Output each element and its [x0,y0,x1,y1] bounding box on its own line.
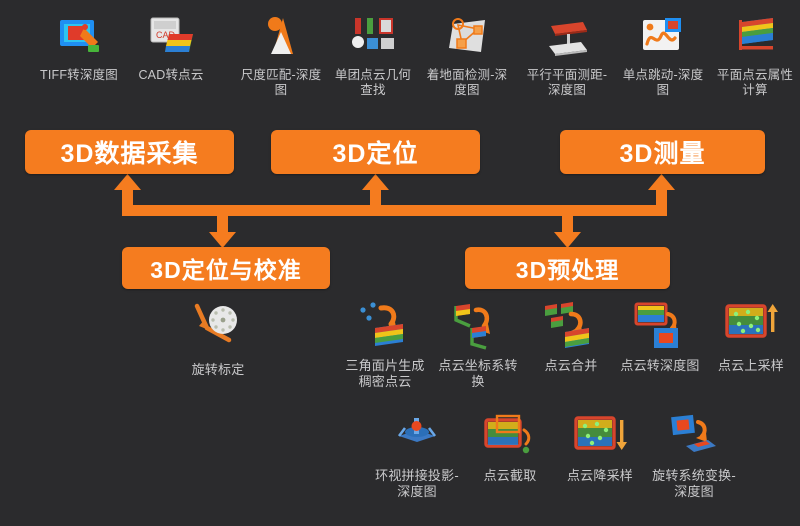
tool-label: 单点跳动-深度图 [620,68,706,99]
tool-single-cluster-geometry-find[interactable]: 单团点云几何查找 [330,12,416,99]
box-label: 3D数据采集 [61,134,199,170]
tool-label: 点云坐标系转换 [432,358,524,390]
point-cloud-upsample-icon [721,300,781,355]
tool-label: 点云降采样 [554,468,646,484]
tool-point-cloud-crop[interactable]: 点云截取 [464,412,556,484]
tool-label: 尺度匹配-深度图 [238,68,324,99]
tool-label: 旋转标定 [168,362,268,378]
diagram-canvas: TIFF转深度图 CAD CAD转点云 尺度匹配-深度图 [0,0,800,526]
cad-to-point-cloud-icon: CAD [145,12,197,65]
parallel-plane-distance-icon [539,12,595,65]
tool-tiff-to-depth-map[interactable]: TIFF转深度图 [36,12,122,83]
tool-scale-match-depth-map[interactable]: 尺度匹配-深度图 [238,12,324,99]
tool-cad-to-point-cloud[interactable]: CAD CAD转点云 [128,12,214,83]
box-3d-data-acquisition[interactable]: 3D数据采集 [25,130,234,174]
single-cluster-geometry-find-icon [347,12,399,65]
rotation-calibration-icon [185,300,251,359]
box-3d-preprocessing[interactable]: 3D预处理 [465,247,670,289]
tool-single-point-runout[interactable]: 单点跳动-深度图 [620,12,706,99]
surround-stitch-projection-icon [387,412,447,465]
tool-label: 点云截取 [464,468,556,484]
point-cloud-crop-icon [480,412,540,465]
rotation-system-transform-icon [664,412,724,465]
point-cloud-to-depth-map-icon [630,300,690,355]
plane-point-cloud-attribute-icon [729,12,781,65]
point-cloud-merge-icon [541,300,601,355]
triangle-mesh-to-dense-cloud-icon [355,300,415,355]
tool-point-cloud-coordinate-transform[interactable]: 点云坐标系转换 [432,300,524,390]
box-label: 3D测量 [620,134,706,170]
box-3d-localization-calibration[interactable]: 3D定位与校准 [122,247,330,289]
tool-label: TIFF转深度图 [36,68,122,83]
tool-point-cloud-downsample[interactable]: 点云降采样 [554,412,646,484]
ground-plane-detection-icon [441,12,493,65]
point-cloud-coordinate-transform-icon [448,300,508,355]
tool-point-cloud-merge[interactable]: 点云合并 [525,300,617,374]
box-3d-localization[interactable]: 3D定位 [271,130,480,174]
tool-label: 旋转系统变换-深度图 [648,468,740,500]
tool-ground-plane-detection[interactable]: 着地面检测-深度图 [424,12,510,99]
tool-label: 着地面检测-深度图 [424,68,510,99]
tool-triangle-mesh-to-dense-cloud[interactable]: 三角面片生成稠密点云 [339,300,431,390]
tool-parallel-plane-distance[interactable]: 平行平面测距-深度图 [524,12,610,99]
tool-surround-stitch-projection[interactable]: 环视拼接投影-深度图 [371,412,463,500]
box-label: 3D预处理 [516,251,619,285]
point-cloud-downsample-icon [570,412,630,465]
tool-rotation-calibration[interactable]: 旋转标定 [168,300,268,378]
tool-label: 三角面片生成稠密点云 [339,358,431,390]
tool-label: 单团点云几何查找 [330,68,416,99]
box-label: 3D定位与校准 [150,251,301,285]
tool-label: 点云转深度图 [614,358,706,374]
tool-label: 点云上采样 [705,358,797,374]
tool-rotation-system-transform[interactable]: 旋转系统变换-深度图 [648,412,740,500]
scale-match-depth-map-icon [255,12,307,65]
tool-plane-point-cloud-attribute[interactable]: 平面点云属性计算 [712,12,798,99]
tool-label: 平面点云属性计算 [712,68,798,99]
tool-label: 点云合并 [525,358,617,374]
single-point-runout-icon [637,12,689,65]
box-label: 3D定位 [333,134,419,170]
box-3d-measurement[interactable]: 3D测量 [560,130,765,174]
tool-label: CAD转点云 [128,68,214,83]
tiff-to-depth-map-icon [54,12,104,65]
tool-point-cloud-to-depth-map[interactable]: 点云转深度图 [614,300,706,374]
tool-label: 环视拼接投影-深度图 [371,468,463,500]
tool-label: 平行平面测距-深度图 [524,68,610,99]
tool-point-cloud-upsample[interactable]: 点云上采样 [705,300,797,374]
